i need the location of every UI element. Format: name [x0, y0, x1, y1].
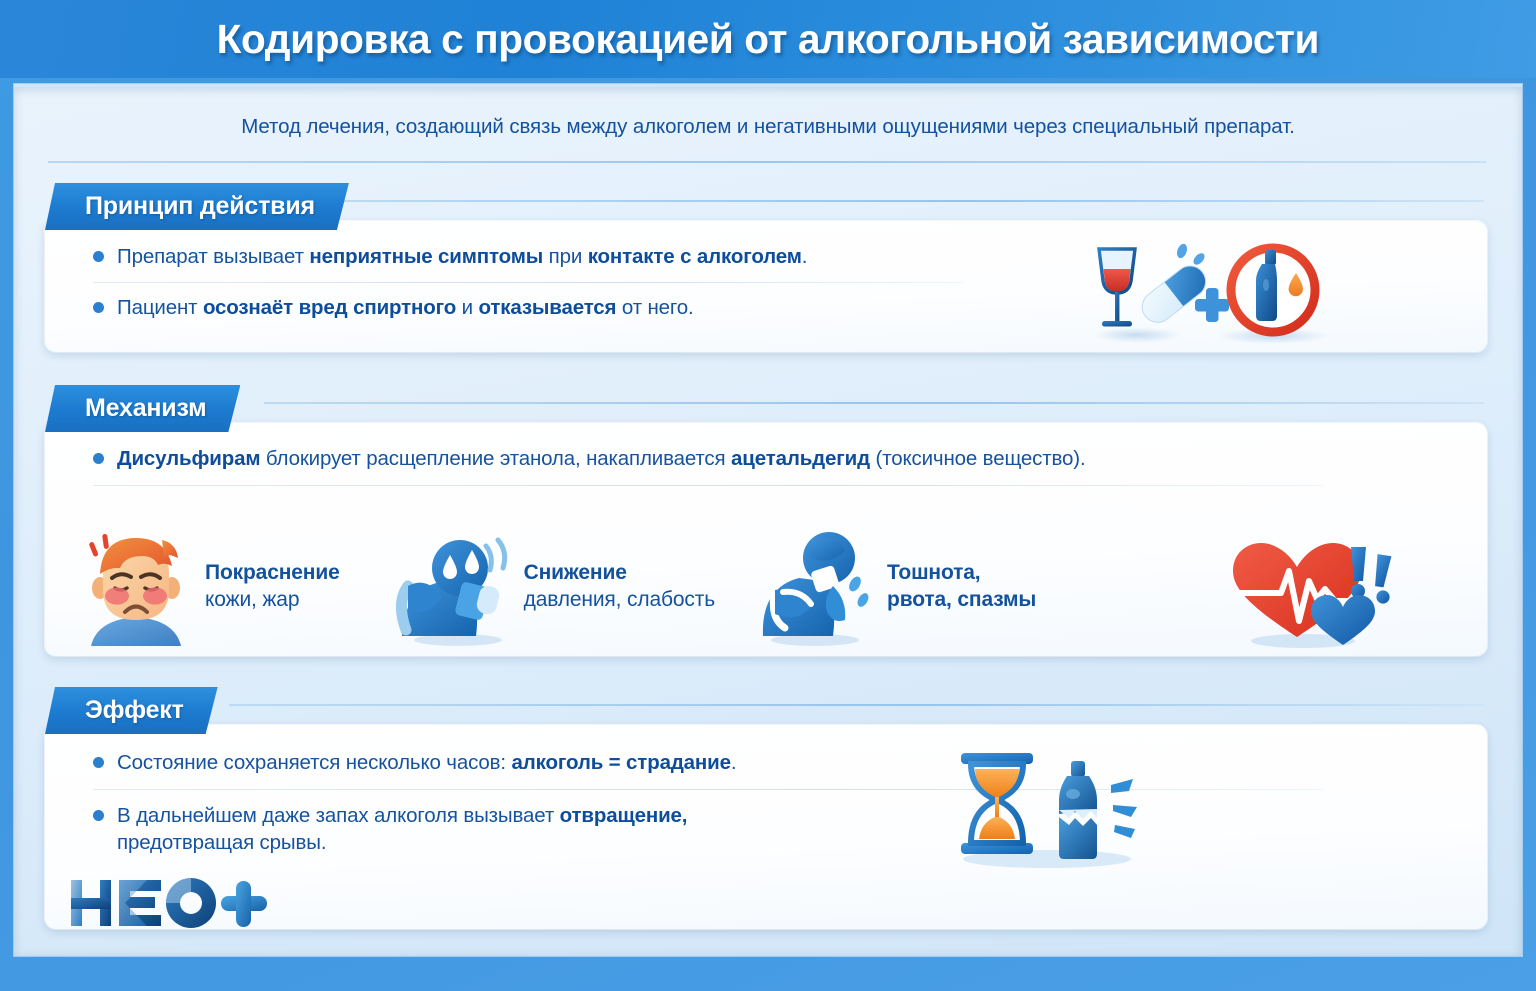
symptom-item: Тошнота, рвота, спазмы — [749, 527, 1036, 647]
exclamation-icon — [1351, 547, 1391, 604]
section-label-mechanism: Механизм — [45, 385, 240, 432]
symptom-label: Тошнота, рвота, спазмы — [887, 560, 1036, 614]
bullet-dot-icon — [93, 810, 104, 821]
intro-text: Метод лечения, создающий связь между алк… — [14, 115, 1522, 139]
broken-bottle-icon — [1059, 761, 1137, 859]
bullet-text: Дисульфирам блокирует расщепление этанол… — [117, 445, 1086, 472]
section-rule-principle — [334, 200, 1484, 202]
no-alcohol-icon — [1231, 248, 1315, 332]
section-label-effect: Эффект — [45, 687, 218, 734]
symptom-line-1: Покраснение — [205, 560, 340, 587]
bullet-dot-icon — [93, 453, 104, 464]
flushed-face-icon — [67, 528, 205, 646]
bullet-item: Препарат вызывает неприятные симптомы пр… — [93, 243, 963, 270]
sparkle-icon — [1175, 242, 1207, 266]
bullet-text: В дальнейшем даже запах алкоголя вызывае… — [117, 802, 687, 856]
neo-plus-logo — [69, 874, 269, 932]
section-label-principle: Принцип действия — [45, 183, 349, 230]
symptom-item: Снижение давления, слабость — [386, 527, 715, 647]
bullet-dot-icon — [93, 757, 104, 768]
symptom-row: Покраснение кожи, жар — [67, 527, 1467, 647]
symptom-line-1: Снижение — [524, 560, 715, 587]
intro-divider — [48, 161, 1486, 163]
hourglass-icon — [961, 753, 1033, 854]
vomiting-person-icon — [749, 528, 887, 646]
principle-icon-group — [1077, 235, 1357, 345]
card-principle: Препарат вызывает неприятные симптомы пр… — [45, 221, 1487, 352]
bullet-divider — [93, 282, 963, 283]
logo-letter-e — [119, 880, 161, 926]
bullet-text: Препарат вызывает неприятные симптомы пр… — [117, 243, 807, 270]
wine-glass-icon — [1099, 249, 1135, 327]
card-mechanism: Дисульфирам блокирует расщепление этанол… — [45, 423, 1487, 656]
bullet-divider — [93, 485, 1323, 486]
bullet-dot-icon — [93, 251, 104, 262]
symptom-line-2: кожи, жар — [205, 587, 340, 614]
bullet-item: Пациент осознаёт вред спиртного и отказы… — [93, 294, 963, 321]
symptom-item: Покраснение кожи, жар — [67, 527, 340, 647]
bullet-item: Дисульфирам блокирует расщепление этанол… — [93, 445, 1323, 472]
section-rule-effect — [229, 704, 1484, 706]
heartbeat-icon — [1227, 537, 1397, 649]
symptom-label: Покраснение кожи, жар — [205, 560, 340, 614]
bullet-dot-icon — [93, 302, 104, 313]
section-rule-mechanism — [264, 402, 1484, 404]
page-title: Кодировка с провокацией от алкогольной з… — [217, 16, 1320, 63]
poster-header: Кодировка с провокацией от алкогольной з… — [0, 0, 1536, 78]
symptom-line-2: давления, слабость — [524, 587, 715, 614]
logo-letter-n — [71, 880, 111, 926]
symptom-label: Снижение давления, слабость — [524, 560, 715, 614]
shard-icon — [1111, 779, 1137, 838]
symptom-line-1: Тошнота, — [887, 560, 1036, 587]
logo-plus-icon — [221, 881, 267, 927]
pill-capsule-icon — [1136, 260, 1212, 329]
infographic-poster: Кодировка с провокацией от алкогольной з… — [0, 0, 1536, 991]
logo-letter-o — [166, 878, 216, 928]
symptom-line-2: рвота, спазмы — [887, 587, 1036, 614]
dizzy-person-icon — [386, 528, 524, 646]
effect-icon-group — [935, 739, 1165, 869]
bullet-text: Пациент осознаёт вред спиртного и отказы… — [117, 294, 694, 321]
bullet-text: Состояние сохраняется несколько часов: а… — [117, 749, 736, 776]
content-panel: Метод лечения, создающий связь между алк… — [14, 84, 1522, 956]
